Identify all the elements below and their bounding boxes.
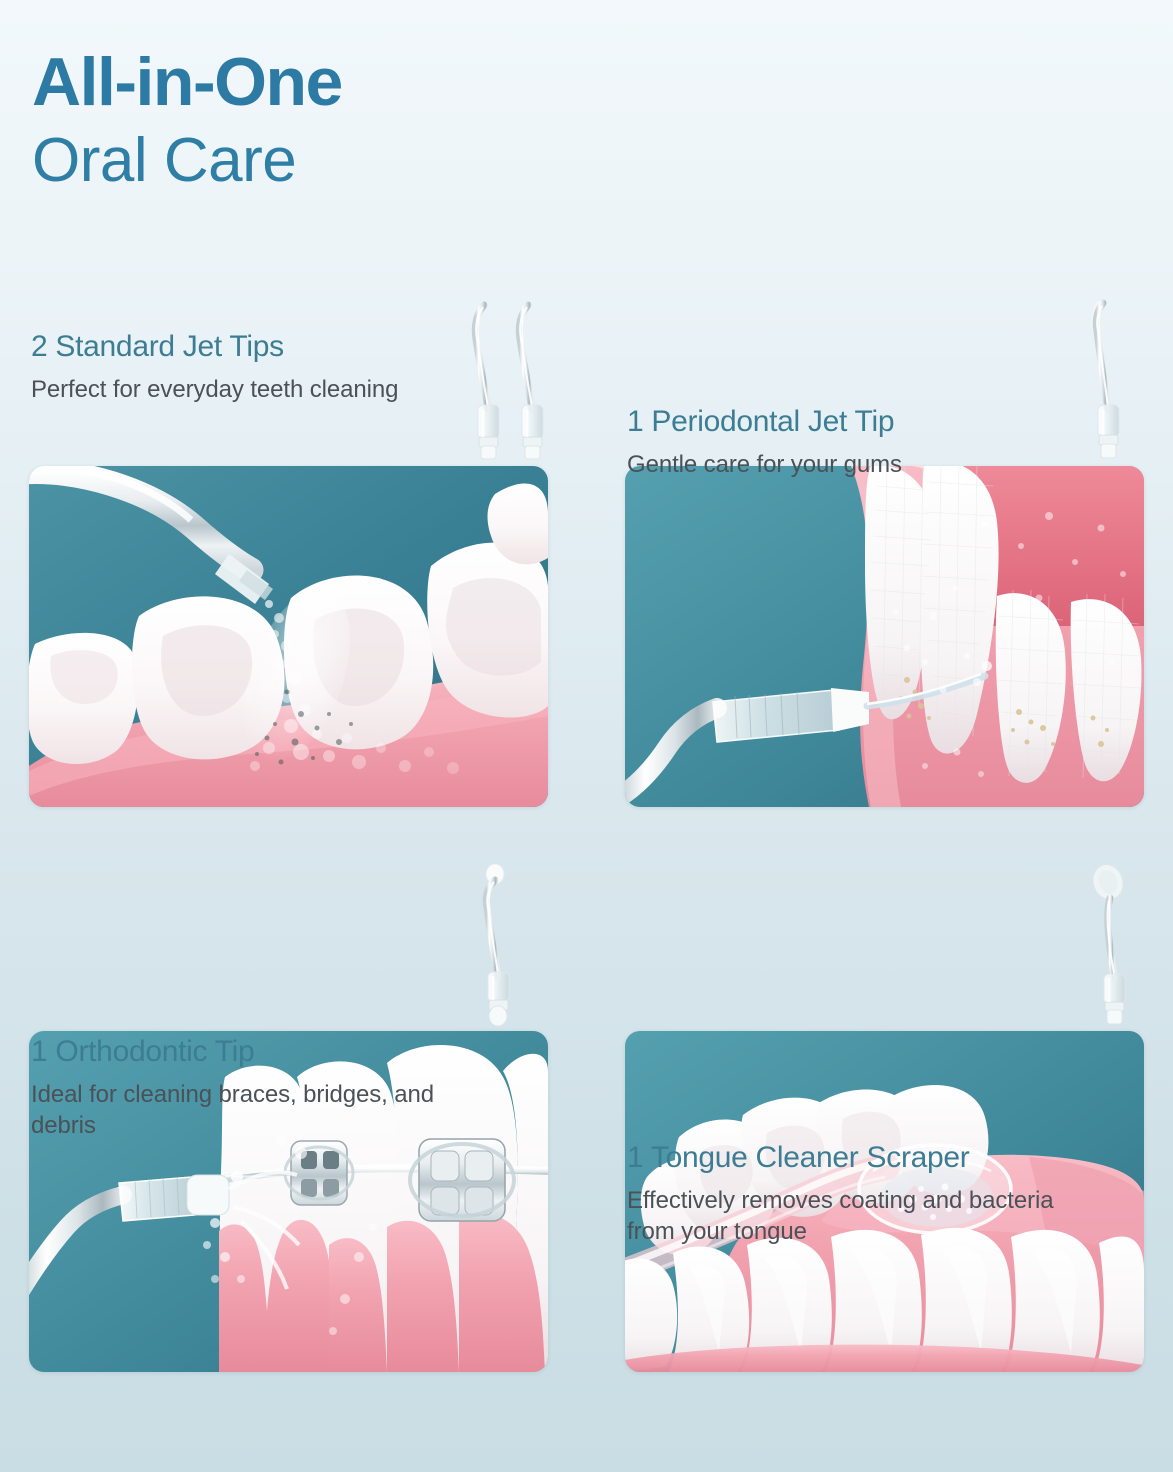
- photo-periodontal-jet-tip: [625, 466, 1144, 807]
- feature-tongue-cleaner-scraper: 1 Tongue Cleaner Scraper Effectively rem…: [625, 1141, 1145, 1247]
- braces-bracket: [410, 1139, 514, 1221]
- feature-heading: 1 Orthodontic Tip: [31, 1035, 549, 1070]
- standard-jet-tip-pair-icon: [458, 297, 562, 462]
- page-title-secondary: Oral Care: [32, 126, 732, 195]
- feature-description: Effectively removes coating and bacteria…: [627, 1186, 1087, 1247]
- orthodontic-tip-icon: [473, 862, 519, 1027]
- feature-periodontal-jet-tip: 1 Periodontal Jet Tip Gentle care for yo…: [625, 405, 1145, 480]
- page-header: All-in-One Oral Care: [32, 48, 732, 195]
- feature-description: Ideal for cleaning braces, bridges, and …: [31, 1080, 491, 1141]
- feature-heading: 1 Periodontal Jet Tip: [627, 405, 1145, 440]
- feature-heading: 1 Tongue Cleaner Scraper: [627, 1141, 1145, 1176]
- feature-description: Gentle care for your gums: [627, 450, 1087, 481]
- periodontal-jet-tip-icon: [1083, 297, 1129, 462]
- tongue-scraper-icon: [1088, 862, 1134, 1027]
- photo-standard-jet-tips: [29, 466, 548, 807]
- page-title-primary: All-in-One: [32, 48, 732, 116]
- feature-description: Perfect for everyday teeth cleaning: [31, 375, 491, 406]
- feature-orthodontic-tip: 1 Orthodontic Tip Ideal for cleaning bra…: [29, 1035, 549, 1141]
